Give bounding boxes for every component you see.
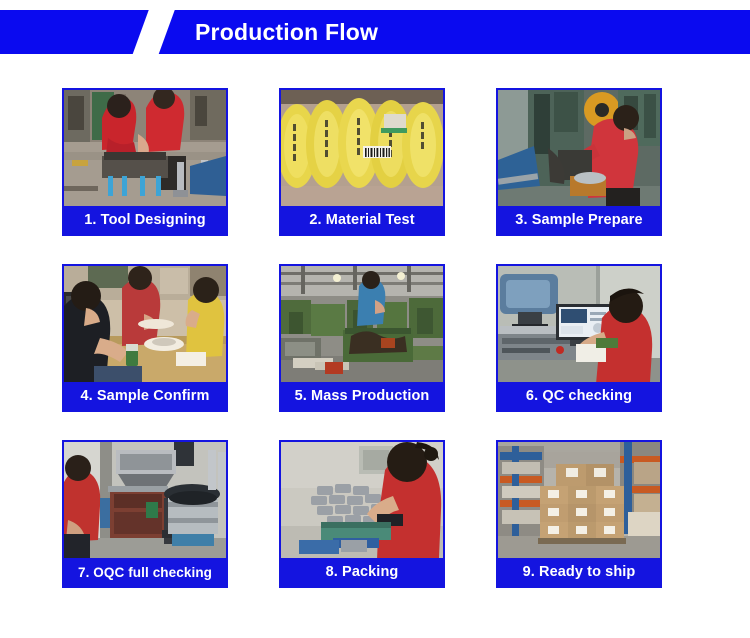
step-label-8: 8. Packing: [281, 558, 443, 586]
step-label-3: 3. Sample Prepare: [498, 206, 660, 234]
step-card-9[interactable]: 9. Ready to ship: [496, 440, 662, 588]
step-photo-packing: [281, 442, 443, 558]
step-label-5: 5. Mass Production: [281, 382, 443, 410]
step-card-5[interactable]: 5. Mass Production: [279, 264, 445, 412]
header-banner: Production Flow: [0, 10, 750, 54]
step-card-2[interactable]: 2. Material Test: [279, 88, 445, 236]
step-photo-sample-prepare: [498, 90, 660, 206]
production-flow-infographic: Production Flow: [0, 0, 750, 638]
step-photo-tool-designing: [64, 90, 226, 206]
step-label-2: 2. Material Test: [281, 206, 443, 234]
step-card-7[interactable]: 7. OQC full checking: [62, 440, 228, 588]
step-card-4[interactable]: 4. Sample Confirm: [62, 264, 228, 412]
step-card-6[interactable]: 6. QC checking: [496, 264, 662, 412]
step-label-1: 1. Tool Designing: [64, 206, 226, 234]
step-photo-sample-confirm: [64, 266, 226, 382]
step-photo-qc-checking: [498, 266, 660, 382]
steps-grid: 1. Tool Designing: [62, 88, 662, 588]
step-label-9: 9. Ready to ship: [498, 558, 660, 586]
step-photo-ready-to-ship: [498, 442, 660, 558]
step-photo-material-test: [281, 90, 443, 206]
step-photo-oqc-full-checking: [64, 442, 226, 558]
page-title: Production Flow: [195, 10, 378, 54]
step-card-1[interactable]: 1. Tool Designing: [62, 88, 228, 236]
step-photo-mass-production: [281, 266, 443, 382]
diagonal-slash-decoration: [129, 10, 177, 54]
step-card-8[interactable]: 8. Packing: [279, 440, 445, 588]
step-card-3[interactable]: 3. Sample Prepare: [496, 88, 662, 236]
step-label-6: 6. QC checking: [498, 382, 660, 410]
step-label-7: 7. OQC full checking: [64, 558, 226, 586]
step-label-4: 4. Sample Confirm: [64, 382, 226, 410]
